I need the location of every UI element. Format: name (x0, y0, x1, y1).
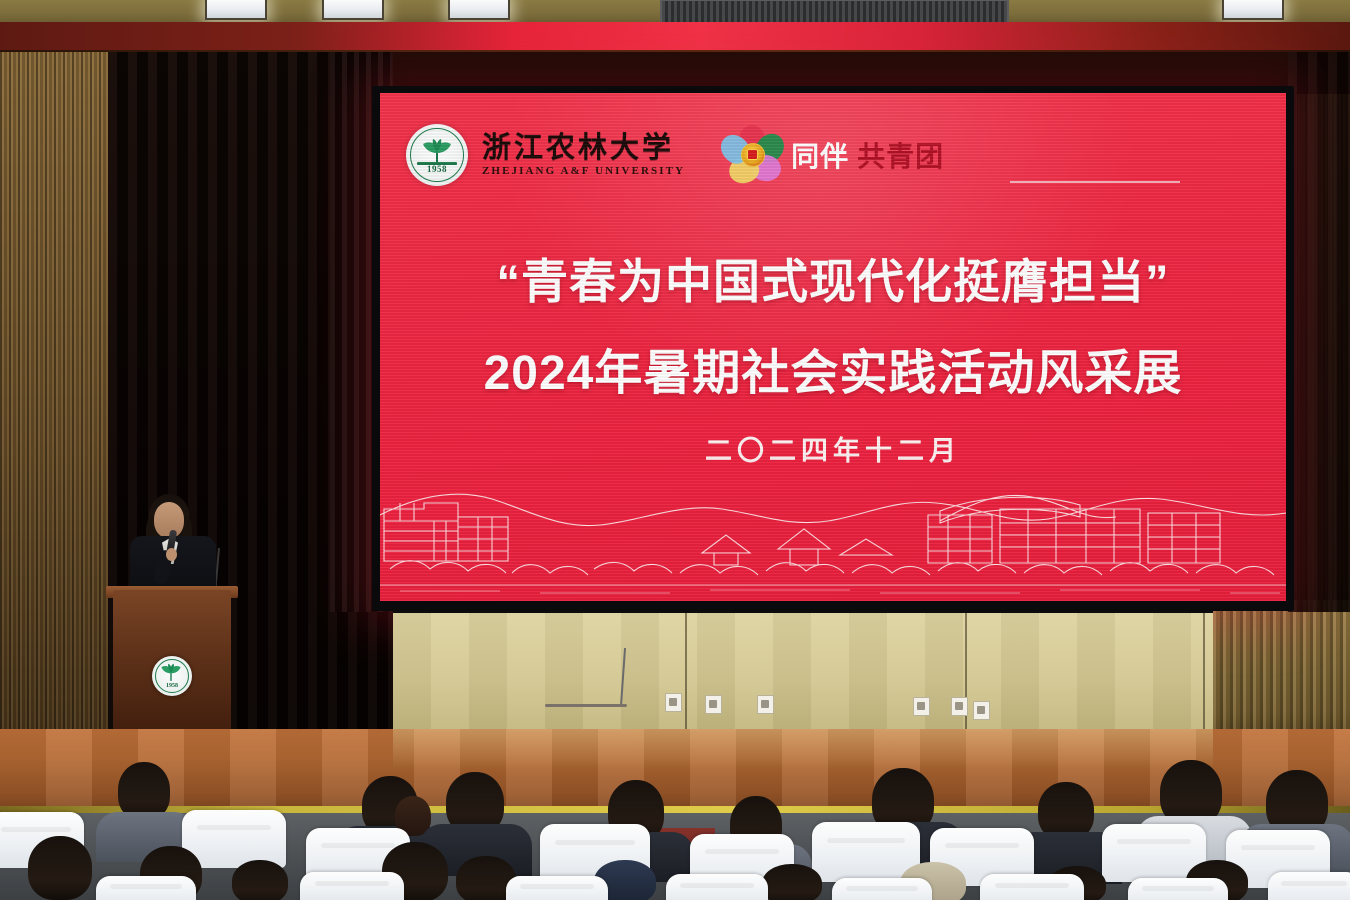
screen-subtitle-date: 二〇二四年十二月 (380, 429, 1286, 468)
audience-seat[interactable] (980, 874, 1084, 900)
audience-seat[interactable] (666, 874, 768, 900)
university-wordmark: 浙江农林大学 ZHEJIANG A&F UNIVERSITY (482, 133, 685, 177)
podium-university-emblem-icon: 1958 (152, 656, 192, 696)
wall-outlet[interactable] (757, 695, 774, 714)
partner-name-white: 同伴 (791, 135, 849, 175)
university-name-en: ZHEJIANG A&F UNIVERSITY (482, 165, 685, 177)
ceiling-light-fixture (205, 0, 267, 20)
podium: 1958 (113, 590, 231, 730)
wall-outlet[interactable] (705, 695, 722, 714)
audience-head (762, 864, 822, 900)
audience-seat[interactable] (832, 878, 932, 900)
emblem-year: 1958 (427, 164, 447, 174)
campus-skyline-artwork (380, 469, 1286, 601)
wall-outlet[interactable] (951, 697, 968, 716)
screen-title-line-1: “青春为中国式现代化挺膺担当” (380, 243, 1286, 312)
wall-seam (685, 613, 687, 731)
wall-slats-left (0, 52, 108, 752)
audience-seat[interactable] (96, 876, 196, 900)
partner-name-red: 共青团 (857, 135, 944, 175)
partner-underline (1010, 181, 1180, 183)
audience-head (232, 860, 288, 900)
ceiling-light-fixture (1222, 0, 1284, 20)
screen-logo-row: 1958 浙江农林大学 ZHEJIANG A&F UNIVERSITY (406, 119, 966, 191)
ceiling-light-fixture (448, 0, 510, 20)
ceiling-red-band (0, 22, 1350, 52)
auditorium-photo: 1958 浙江农林大学 ZHEJIANG A&F UNIVERSITY (0, 0, 1350, 900)
podium-ginkgo-leaf-icon (158, 663, 184, 681)
wall-outlet[interactable] (665, 693, 682, 712)
university-name-cn: 浙江农林大学 (482, 133, 685, 163)
flower-core-emblem-icon (741, 143, 765, 167)
led-screen: 1958 浙江农林大学 ZHEJIANG A&F UNIVERSITY (380, 93, 1286, 601)
stage-back-wall (393, 611, 1213, 731)
university-emblem-icon: 1958 (406, 124, 468, 186)
led-screen-bezel: 1958 浙江农林大学 ZHEJIANG A&F UNIVERSITY (372, 86, 1294, 611)
wall-outlet[interactable] (973, 701, 990, 720)
ginkgo-leaf-icon (418, 138, 456, 164)
partner-logo: 同伴 共青团 (721, 125, 944, 185)
wall-outlet[interactable] (913, 697, 930, 716)
audience-seat[interactable] (300, 872, 404, 900)
wall-seam (1203, 613, 1205, 731)
speaker-hand (166, 548, 177, 561)
audience-seat[interactable] (1268, 872, 1350, 900)
audience-seat[interactable] (1128, 878, 1228, 900)
audience-area (0, 760, 1350, 900)
audience-head (28, 836, 92, 900)
screen-title-line-2: 2024年暑期社会实践活动风采展 (380, 333, 1286, 403)
flower-petals-icon (721, 125, 783, 185)
ceiling-light-fixture (322, 0, 384, 20)
stage-curtain-right (1288, 52, 1350, 612)
podium-emblem-year: 1958 (166, 683, 178, 689)
speaker-person (126, 492, 222, 592)
audience-seat[interactable] (506, 876, 608, 900)
wall-cable-floor (545, 704, 627, 707)
